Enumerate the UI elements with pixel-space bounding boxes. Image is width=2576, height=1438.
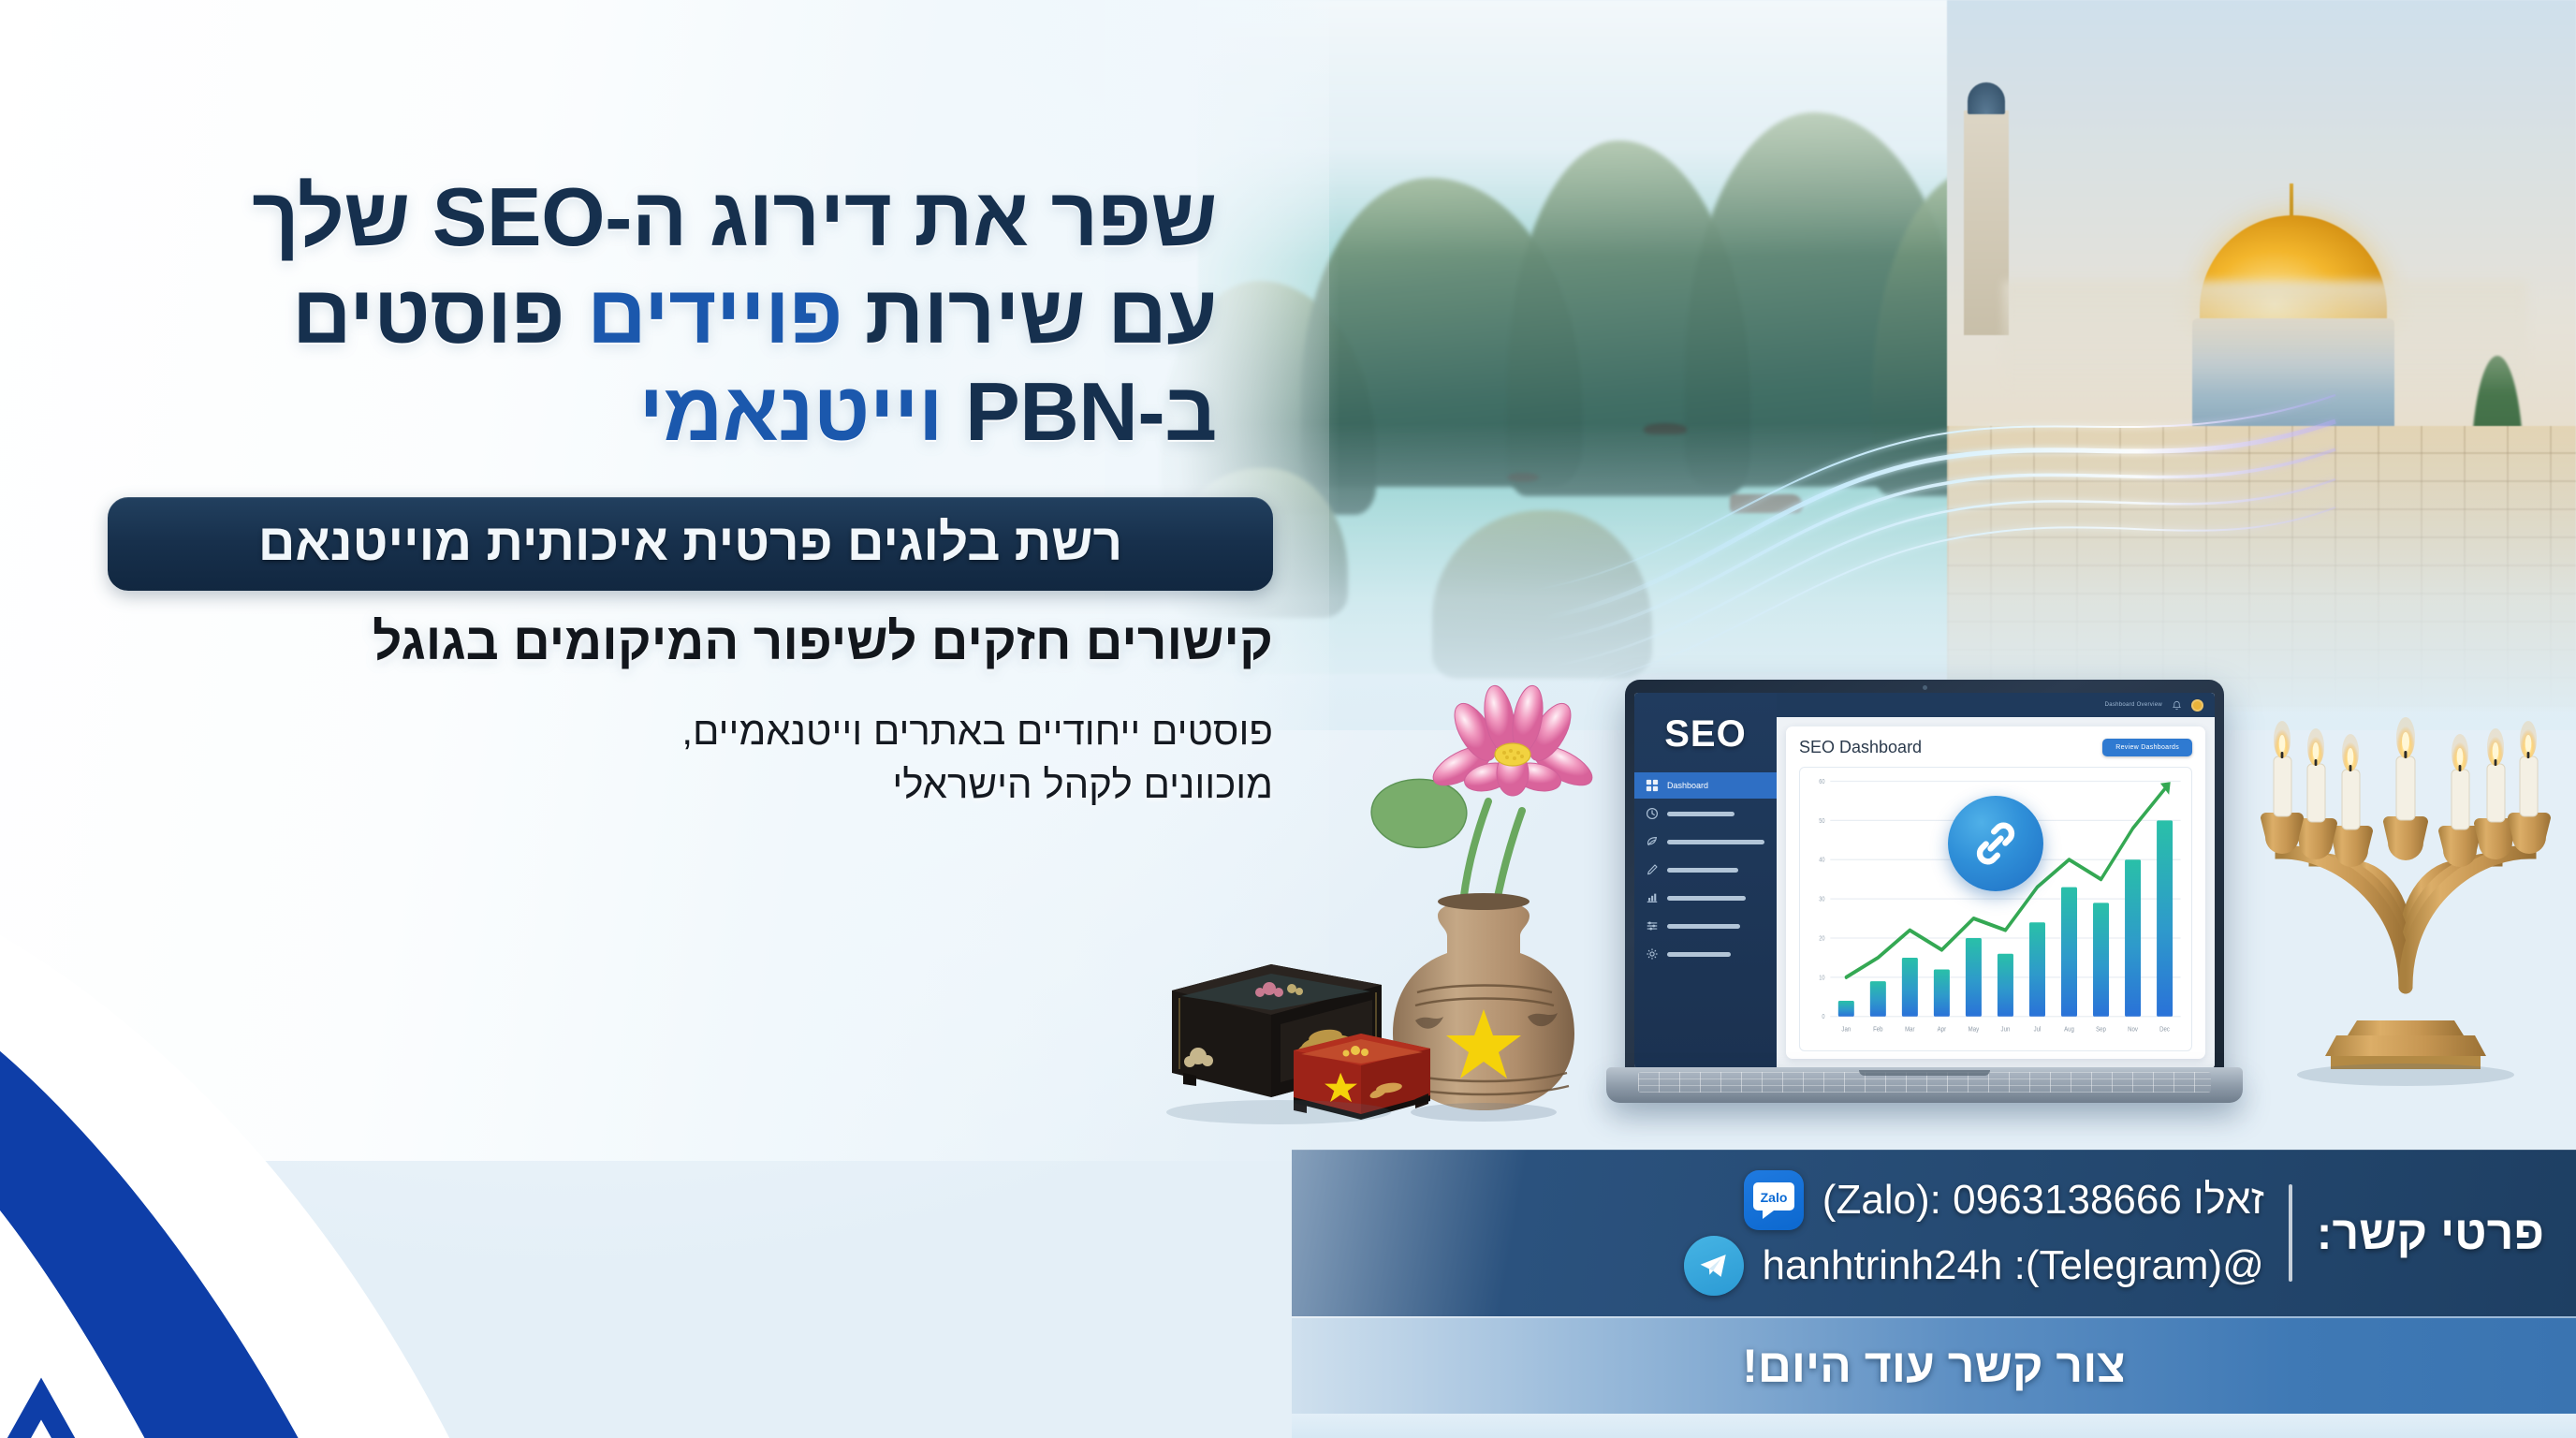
- topbar-label: Dashboard Overview: [2105, 702, 2162, 708]
- svg-text:Sep: Sep: [2096, 1026, 2106, 1034]
- sidebar-item-3[interactable]: [1634, 829, 1777, 855]
- sidebar-item-label: Dashboard: [1667, 781, 1708, 790]
- telegram-icon[interactable]: [1684, 1236, 1744, 1296]
- svg-text:Dec: Dec: [2159, 1026, 2170, 1034]
- copy-block: שפר את דירוג ה-SEO שלך עם שירות פויידים …: [0, 169, 1273, 811]
- svg-text:40: 40: [1819, 857, 1825, 864]
- contact-label: פרטי קשר:: [2317, 1206, 2544, 1260]
- dashboard-main: Dashboard Overview SEO Dashboard Review …: [1777, 693, 2215, 1068]
- sidebar-item-5[interactable]: [1634, 885, 1777, 911]
- contact-zalo-text: זאלו 0963138666 :(Zalo): [1822, 1177, 2264, 1224]
- chart-icon: [1646, 891, 1659, 904]
- cta-footer-strip: [1292, 1414, 2576, 1438]
- headline-accent-1: פויידים: [587, 268, 842, 360]
- israeli-flag-corner: [0, 820, 655, 1438]
- pen-icon: [1646, 863, 1659, 876]
- contact-row-zalo[interactable]: זאלו 0963138666 :(Zalo) Zalo: [1684, 1170, 2264, 1230]
- svg-text:30: 30: [1819, 896, 1825, 903]
- headline-accent-2: וייטנאמי: [638, 365, 943, 458]
- grid-icon: [1646, 779, 1659, 792]
- highlight-banner-text: רשת בלוגים פרטית איכותית מוייטנאם: [139, 512, 1241, 572]
- zalo-icon[interactable]: Zalo: [1744, 1170, 1804, 1230]
- headline-line-1: שפר את דירוג ה-SEO שלך: [56, 169, 1217, 266]
- svg-text:60: 60: [1819, 778, 1825, 785]
- laptop-screen: SEO Dashboard: [1634, 693, 2215, 1068]
- promo-banner: שפר את דירוג ה-SEO שלך עם שירות פויידים …: [0, 0, 2576, 1438]
- panel-header: SEO Dashboard Review Dashboards: [1799, 738, 2192, 757]
- clock-icon: [1646, 807, 1659, 820]
- sidebar-item-2[interactable]: [1634, 800, 1777, 827]
- svg-text:May: May: [1969, 1026, 1980, 1034]
- webcam-icon: [1923, 685, 1927, 690]
- svg-text:10: 10: [1819, 975, 1825, 982]
- svg-text:Feb: Feb: [1873, 1026, 1883, 1034]
- contact-telegram-text: @hanhtrinh24h :(Telegram): [1763, 1242, 2264, 1289]
- sidebar-item-7[interactable]: [1634, 941, 1777, 967]
- dashboard-topbar: Dashboard Overview: [1777, 693, 2215, 717]
- panel-title: SEO Dashboard: [1799, 738, 1922, 757]
- menorah-object: [2247, 712, 2565, 1105]
- svg-text:50: 50: [1819, 817, 1825, 825]
- contact-bar: פרטי קשר: זאלו 0963138666 :(Zalo) Zalo @…: [1292, 1150, 2576, 1316]
- headline-line-3: ב-PBN וייטנאמי: [56, 363, 1217, 461]
- review-dashboards-button[interactable]: Review Dashboards: [2102, 739, 2192, 756]
- svg-text:Aug: Aug: [2064, 1026, 2074, 1034]
- laptop-lid: SEO Dashboard: [1625, 680, 2224, 1078]
- page-title: שפר את דירוג ה-SEO שלך עם שירות פויידים …: [56, 169, 1273, 460]
- keyboard: [1638, 1072, 2211, 1093]
- lotus-flower-icon: [1427, 683, 1598, 796]
- contact-divider: [2289, 1184, 2292, 1282]
- seo-logo: SEO: [1634, 702, 1777, 770]
- headline-line-2: עם שירות פויידים פוסטים: [56, 266, 1217, 363]
- gear-icon: [1646, 947, 1659, 961]
- svg-text:Jun: Jun: [2001, 1026, 2011, 1034]
- highlight-banner: רשת בלוגים פרטית איכותית מוייטנאם: [108, 497, 1273, 591]
- description-line-1: פוסטים ייחודיים באתרים וייטנאמיים,: [281, 705, 1273, 757]
- description-paragraph: פוסטים ייחודיים באתרים וייטנאמיים, מוכוו…: [56, 705, 1273, 811]
- svg-text:0: 0: [1822, 1014, 1824, 1021]
- leaf-icon: [1646, 835, 1659, 848]
- dashboard-sidebar: SEO Dashboard: [1634, 693, 1777, 1068]
- subheadline: קישורים חזקים לשיפור המיקומים בגוגל: [56, 611, 1273, 671]
- svg-text:Zalo: Zalo: [1760, 1190, 1787, 1205]
- bell-icon[interactable]: [2172, 700, 2182, 711]
- svg-text:Nov: Nov: [2128, 1026, 2138, 1034]
- svg-text:Jul: Jul: [2034, 1026, 2042, 1034]
- laptop-base: [1606, 1067, 2243, 1103]
- sidebar-item-dashboard[interactable]: Dashboard: [1634, 772, 1777, 799]
- contact-lines: זאלו 0963138666 :(Zalo) Zalo @hanhtrinh2…: [1684, 1170, 2264, 1296]
- contact-row-telegram[interactable]: @hanhtrinh24h :(Telegram): [1684, 1236, 2264, 1296]
- seo-bar-chart: 0102030405060 JanFebMarAprMayJunJulAugSe…: [1799, 767, 2192, 1051]
- laptop-mockup: SEO Dashboard: [1606, 680, 2243, 1138]
- link-icon: [1948, 796, 2043, 891]
- dashboard-panel: SEO Dashboard Review Dashboards: [1786, 726, 2205, 1059]
- svg-text:Apr: Apr: [1938, 1026, 1947, 1034]
- sliders-icon: [1646, 919, 1659, 932]
- sidebar-item-4[interactable]: [1634, 857, 1777, 883]
- avatar[interactable]: [2191, 699, 2203, 712]
- svg-text:Mar: Mar: [1905, 1026, 1915, 1034]
- description-line-2: מוכוונים לקהל הישראלי: [281, 758, 1273, 811]
- svg-text:Jan: Jan: [1841, 1026, 1851, 1034]
- cta-bar[interactable]: צור קשר עוד היום!: [1292, 1316, 2576, 1414]
- lacquer-boxes-object: [1159, 917, 1486, 1133]
- svg-text:20: 20: [1819, 935, 1825, 943]
- cta-text: צור קשר עוד היום!: [1742, 1339, 2126, 1393]
- sidebar-item-6[interactable]: [1634, 913, 1777, 939]
